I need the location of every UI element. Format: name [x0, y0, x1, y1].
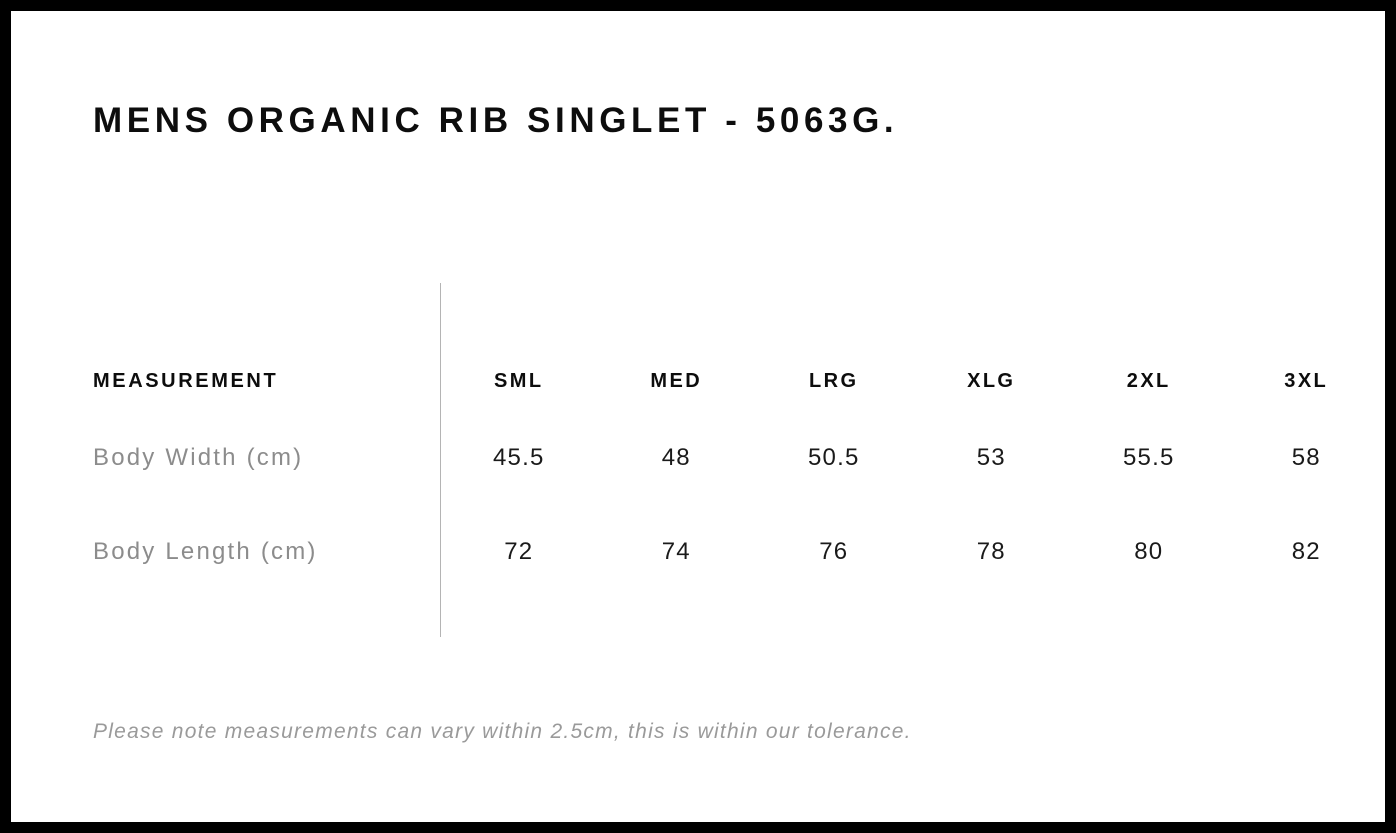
size-chart-sheet: MENS ORGANIC RIB SINGLET - 5063G. MEASUR…: [11, 11, 1385, 822]
row-label-body-length: Body Length (cm): [93, 538, 440, 566]
tolerance-footnote: Please note measurements can vary within…: [93, 718, 912, 745]
column-header-measurement: MEASUREMENT: [93, 370, 440, 393]
cell-body-width-lrg: 50.5: [755, 444, 913, 472]
cell-body-width-med: 48: [598, 444, 756, 472]
column-header-2xl: 2XL: [1070, 370, 1228, 393]
column-header-lrg: LRG: [755, 370, 913, 393]
cell-body-length-xlg: 78: [913, 538, 1071, 566]
cell-body-width-3xl: 58: [1228, 444, 1386, 472]
cell-body-length-3xl: 82: [1228, 538, 1386, 566]
size-chart-frame: MENS ORGANIC RIB SINGLET - 5063G. MEASUR…: [0, 0, 1396, 833]
table-row: Body Width (cm) 45.5 48 50.5 53 55.5 58: [93, 411, 1385, 505]
cell-body-length-med: 74: [598, 538, 756, 566]
page-title: MENS ORGANIC RIB SINGLET - 5063G.: [93, 103, 898, 138]
cell-body-length-lrg: 76: [755, 538, 913, 566]
column-header-med: MED: [598, 370, 756, 393]
cell-body-length-sml: 72: [440, 538, 598, 566]
cell-body-length-2xl: 80: [1070, 538, 1228, 566]
row-label-body-width: Body Width (cm): [93, 444, 440, 472]
cell-body-width-2xl: 55.5: [1070, 444, 1228, 472]
table-row: Body Length (cm) 72 74 76 78 80 82: [93, 505, 1385, 599]
column-header-3xl: 3XL: [1228, 370, 1386, 393]
column-header-sml: SML: [440, 370, 598, 393]
cell-body-width-xlg: 53: [913, 444, 1071, 472]
column-header-xlg: XLG: [913, 370, 1071, 393]
size-table: MEASUREMENT SML MED LRG XLG 2XL 3XL Body…: [93, 351, 1385, 599]
cell-body-width-sml: 45.5: [440, 444, 598, 472]
table-header-row: MEASUREMENT SML MED LRG XLG 2XL 3XL: [93, 351, 1385, 411]
